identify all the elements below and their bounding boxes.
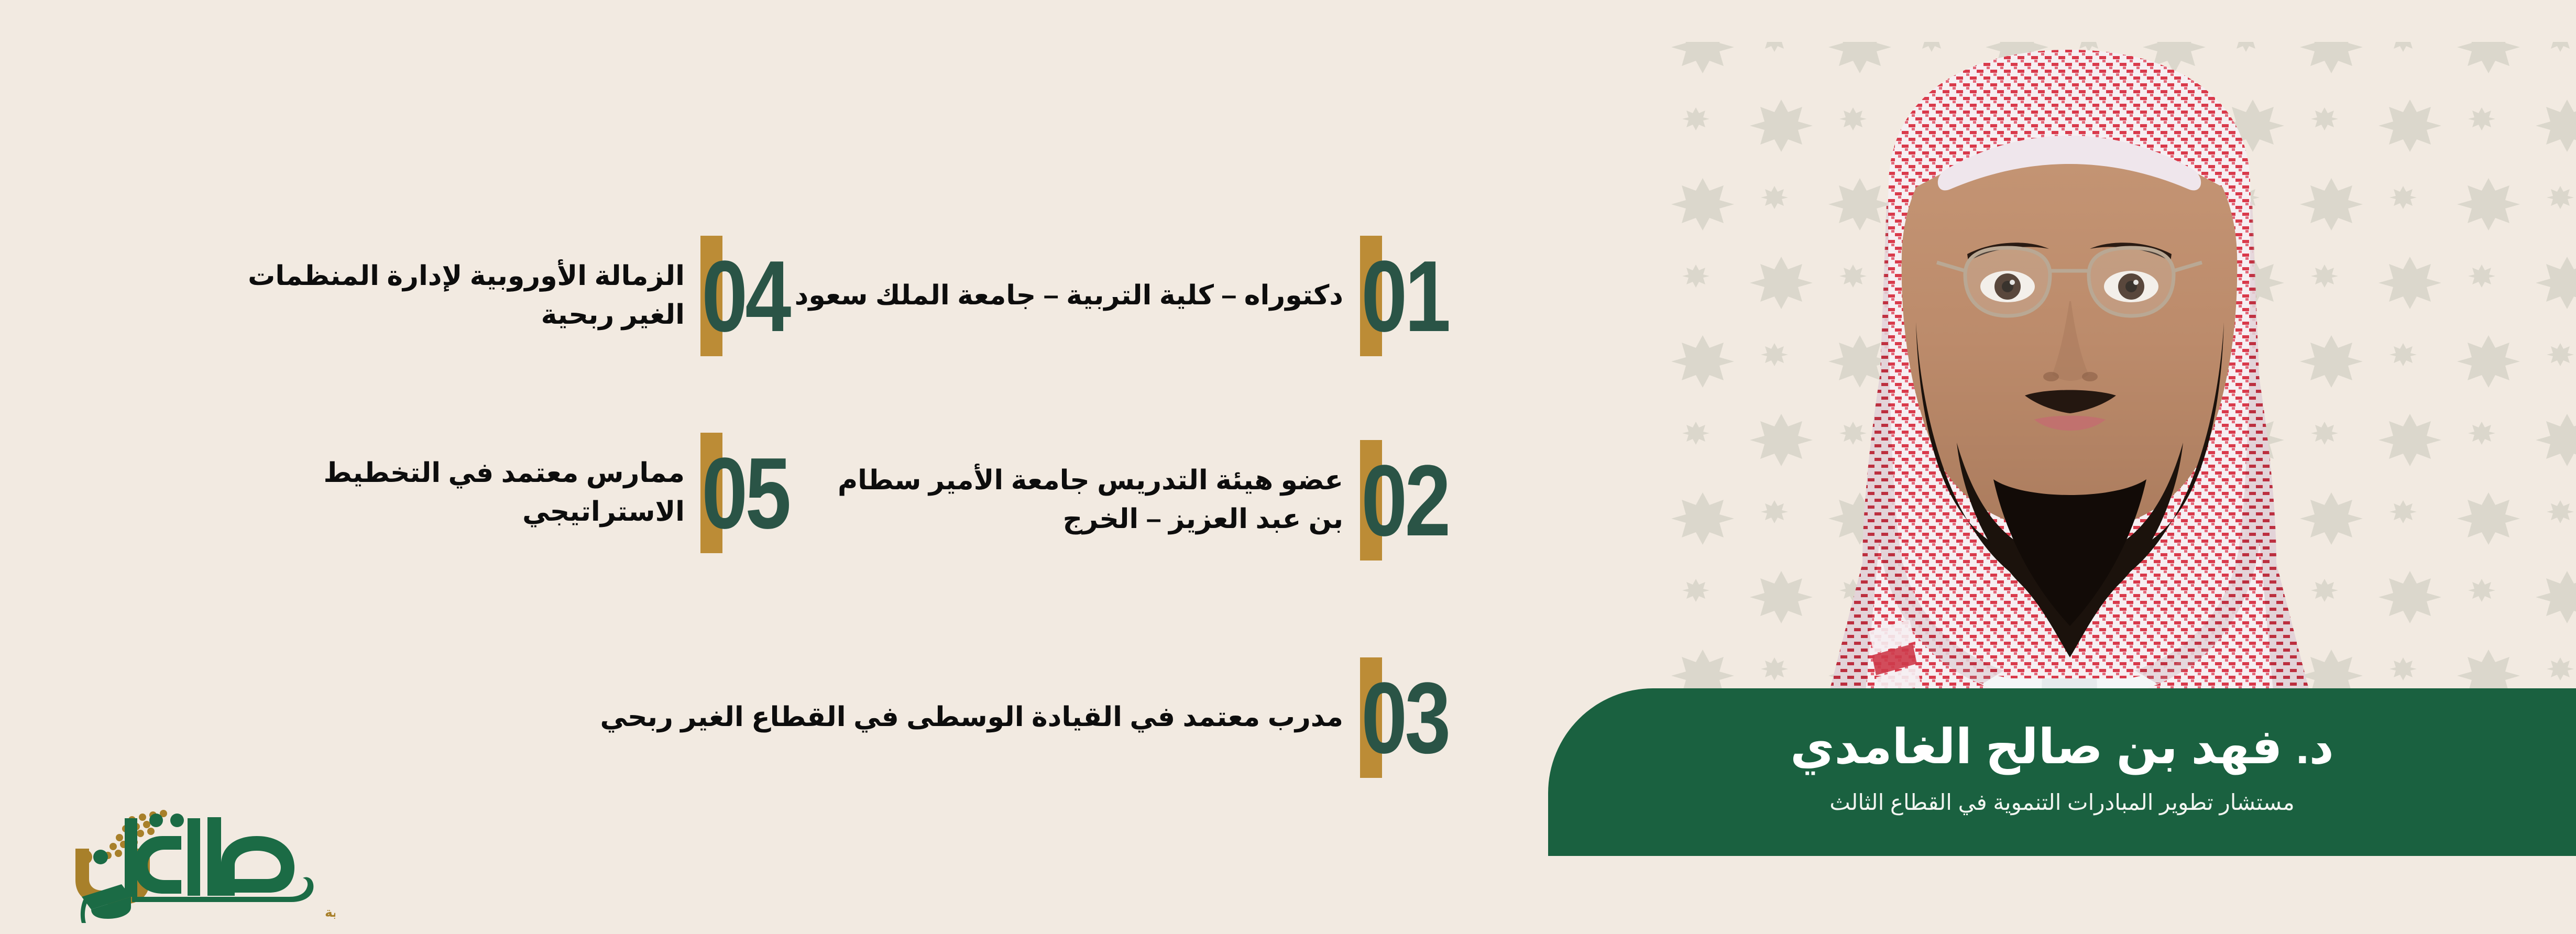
credential-number: 05 — [701, 443, 788, 544]
credential-number: 01 — [1361, 246, 1448, 347]
credential-number-wrap-03: 03 — [1360, 657, 1449, 778]
profile-name: د. فهد بن صالح الغامدي — [1790, 721, 2334, 774]
profile-role: مستشار تطوير المبادرات التنموية في القطا… — [1829, 789, 2294, 816]
brand-logo[interactable]: طاقات للاستشارات التعليمية والتربوية — [52, 786, 335, 925]
credential-text-01: دكتوراه – كلية التربية – جامعة الملك سعو… — [795, 277, 1343, 315]
profile-name-banner: د. فهد بن صالح الغامدي مستشار تطوير المب… — [1548, 688, 2576, 856]
credential-number-wrap-05: 05 — [700, 433, 790, 553]
credential-number: 04 — [701, 246, 788, 347]
credential-item-03: 03 مدرب معتمد في القيادة الوسطى في القطا… — [600, 657, 1449, 778]
credential-text-03: مدرب معتمد في القيادة الوسطى في القطاع ا… — [600, 698, 1343, 737]
poster-canvas: 01 دكتوراه – كلية التربية – جامعة الملك … — [0, 0, 2576, 934]
profile-photo — [1731, 29, 2407, 726]
credential-line: مدرب معتمد في القيادة الوسطى في القطاع ا… — [600, 698, 1343, 737]
credential-text-05: ممارس معتمد في التخطيط الاستراتيجي — [323, 454, 685, 532]
logo-wordmark-shape — [125, 814, 313, 902]
credential-number-wrap-01: 01 — [1360, 236, 1449, 356]
credential-line: الاستراتيجي — [323, 493, 685, 532]
credential-line: عضو هيئة التدريس جامعة الأمير سطام — [838, 461, 1343, 500]
credential-item-05: 05 ممارس معتمد في التخطيط الاستراتيجي — [323, 433, 790, 553]
credential-text-02: عضو هيئة التدريس جامعة الأمير سطام بن عب… — [838, 461, 1343, 539]
credential-line: ممارس معتمد في التخطيط — [323, 454, 685, 493]
credential-line: الغير ربحية — [248, 296, 685, 335]
credential-item-02: 02 عضو هيئة التدريس جامعة الأمير سطام بن… — [838, 440, 1449, 561]
credential-item-04: 04 الزمالة الأوروبية لإدارة المنظمات الغ… — [248, 236, 790, 356]
credential-item-01: 01 دكتوراه – كلية التربية – جامعة الملك … — [795, 236, 1449, 356]
credential-number: 03 — [1361, 667, 1448, 768]
credential-number: 02 — [1361, 450, 1448, 551]
credential-line: دكتوراه – كلية التربية – جامعة الملك سعو… — [795, 277, 1343, 315]
credential-number-wrap-02: 02 — [1360, 440, 1449, 561]
credential-line: الزمالة الأوروبية لإدارة المنظمات — [248, 257, 685, 296]
credential-text-04: الزمالة الأوروبية لإدارة المنظمات الغير … — [248, 257, 685, 335]
logo-tagline: طاقات للاستشارات التعليمية والتربوية — [325, 905, 335, 920]
credential-line: بن عبد العزيز – الخرج — [838, 500, 1343, 539]
credential-number-wrap-04: 04 — [700, 236, 790, 356]
